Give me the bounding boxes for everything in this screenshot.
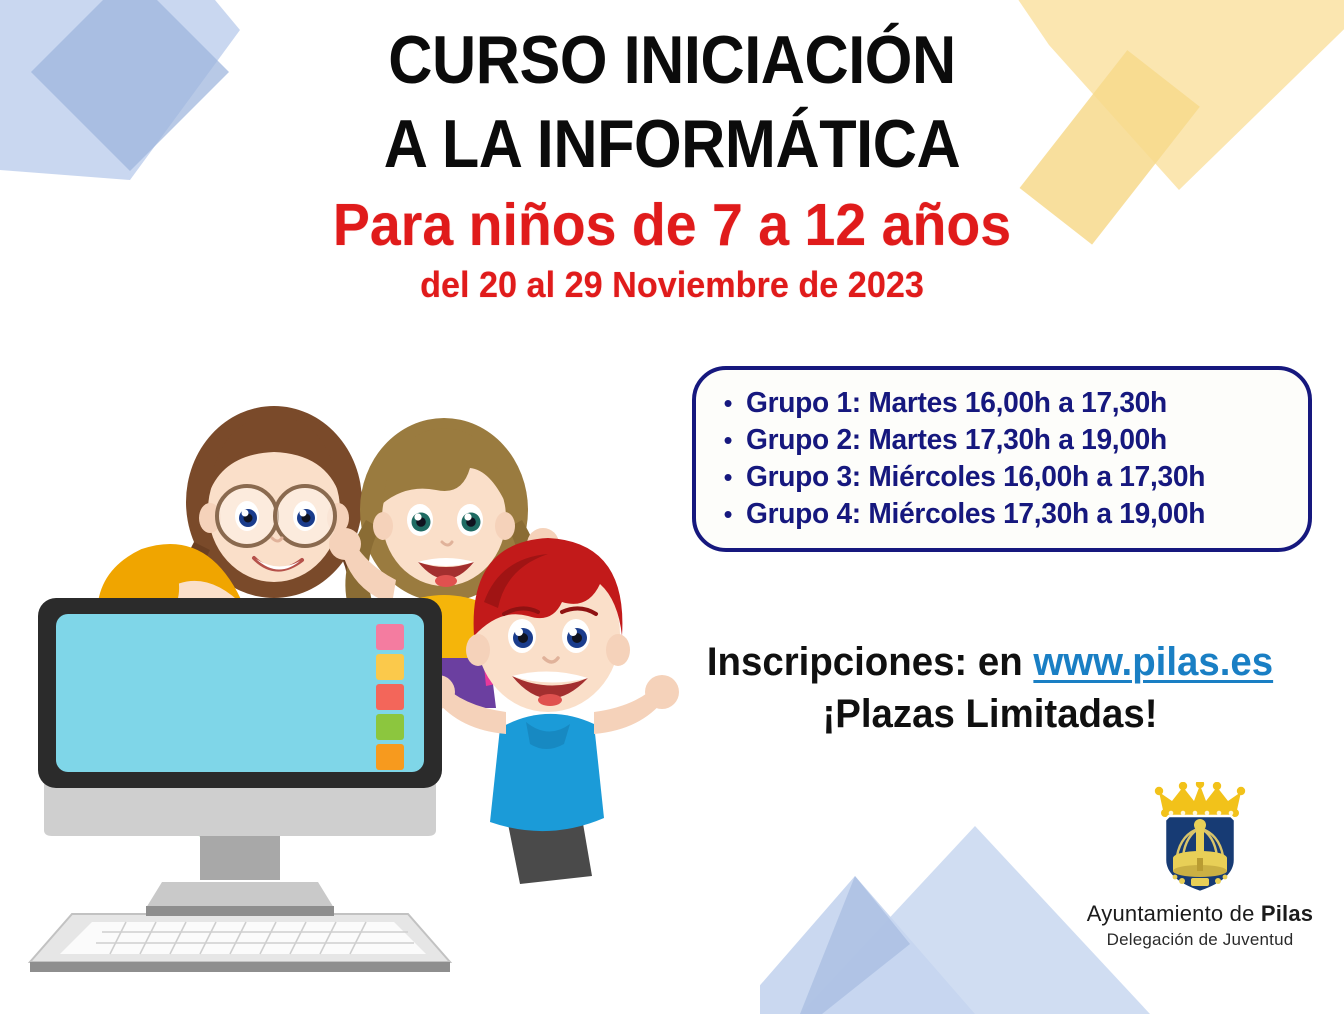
desktop-computer	[30, 598, 450, 972]
municipality-logo: Ayuntamiento de Pilas Delegación de Juve…	[1060, 782, 1340, 950]
screen-color-icons	[376, 624, 404, 770]
bullet-icon: •	[710, 422, 746, 459]
logo-name-regular: Ayuntamiento de	[1087, 901, 1261, 926]
logo-municipality-name: Ayuntamiento de Pilas	[1060, 901, 1340, 927]
logo-name-bold: Pilas	[1261, 901, 1313, 926]
page-title-line-1: CURSO INICIACIÓN	[67, 18, 1277, 102]
subtitle-age-range: Para niños de 7 a 12 años	[40, 188, 1303, 262]
subtitle-dates: del 20 al 29 Noviembre de 2023	[34, 262, 1311, 308]
children-with-computer-illustration	[14, 392, 704, 972]
schedule-group-1: Grupo 1: Martes 16,00h a 17,30h	[746, 385, 1167, 422]
limited-places-text: ¡Plazas Limitadas!	[673, 688, 1307, 740]
inscriptions-label: Inscripciones: en	[707, 640, 1034, 684]
crown-icon	[1155, 782, 1245, 817]
keyboard	[30, 914, 450, 972]
coat-of-arms-icon	[1145, 782, 1255, 894]
shield-icon	[1165, 816, 1235, 892]
list-item: • Grupo 3: Miércoles 16,00h a 17,30h	[710, 459, 1290, 496]
registration-website-link[interactable]: www.pilas.es	[1033, 640, 1273, 684]
logo-department: Delegación de Juventud	[1060, 930, 1340, 950]
page-title-line-2: A LA INFORMÁTICA	[67, 102, 1277, 186]
inscriptions-block: Inscripciones: en www.pilas.es ¡Plazas L…	[660, 636, 1320, 740]
bullet-icon: •	[710, 459, 746, 496]
list-item: • Grupo 1: Martes 16,00h a 17,30h	[710, 385, 1290, 422]
poster-root: { "poster": { "title_line_1": "CURSO INI…	[0, 0, 1344, 1008]
list-item: • Grupo 2: Martes 17,30h a 19,00h	[710, 422, 1290, 459]
schedule-group-3: Grupo 3: Miércoles 16,00h a 17,30h	[746, 459, 1205, 496]
list-item: • Grupo 4: Miércoles 17,30h a 19,00h	[710, 496, 1290, 533]
poster-headings: CURSO INICIACIÓN A LA INFORMÁTICA Para n…	[0, 18, 1344, 308]
schedule-box: • Grupo 1: Martes 16,00h a 17,30h • Grup…	[692, 366, 1312, 552]
bullet-icon: •	[710, 385, 746, 422]
inscriptions-line: Inscripciones: en www.pilas.es	[673, 636, 1307, 688]
schedule-group-2: Grupo 2: Martes 17,30h a 19,00h	[746, 422, 1167, 459]
schedule-group-4: Grupo 4: Miércoles 17,30h a 19,00h	[746, 496, 1205, 533]
bullet-icon: •	[710, 496, 746, 533]
